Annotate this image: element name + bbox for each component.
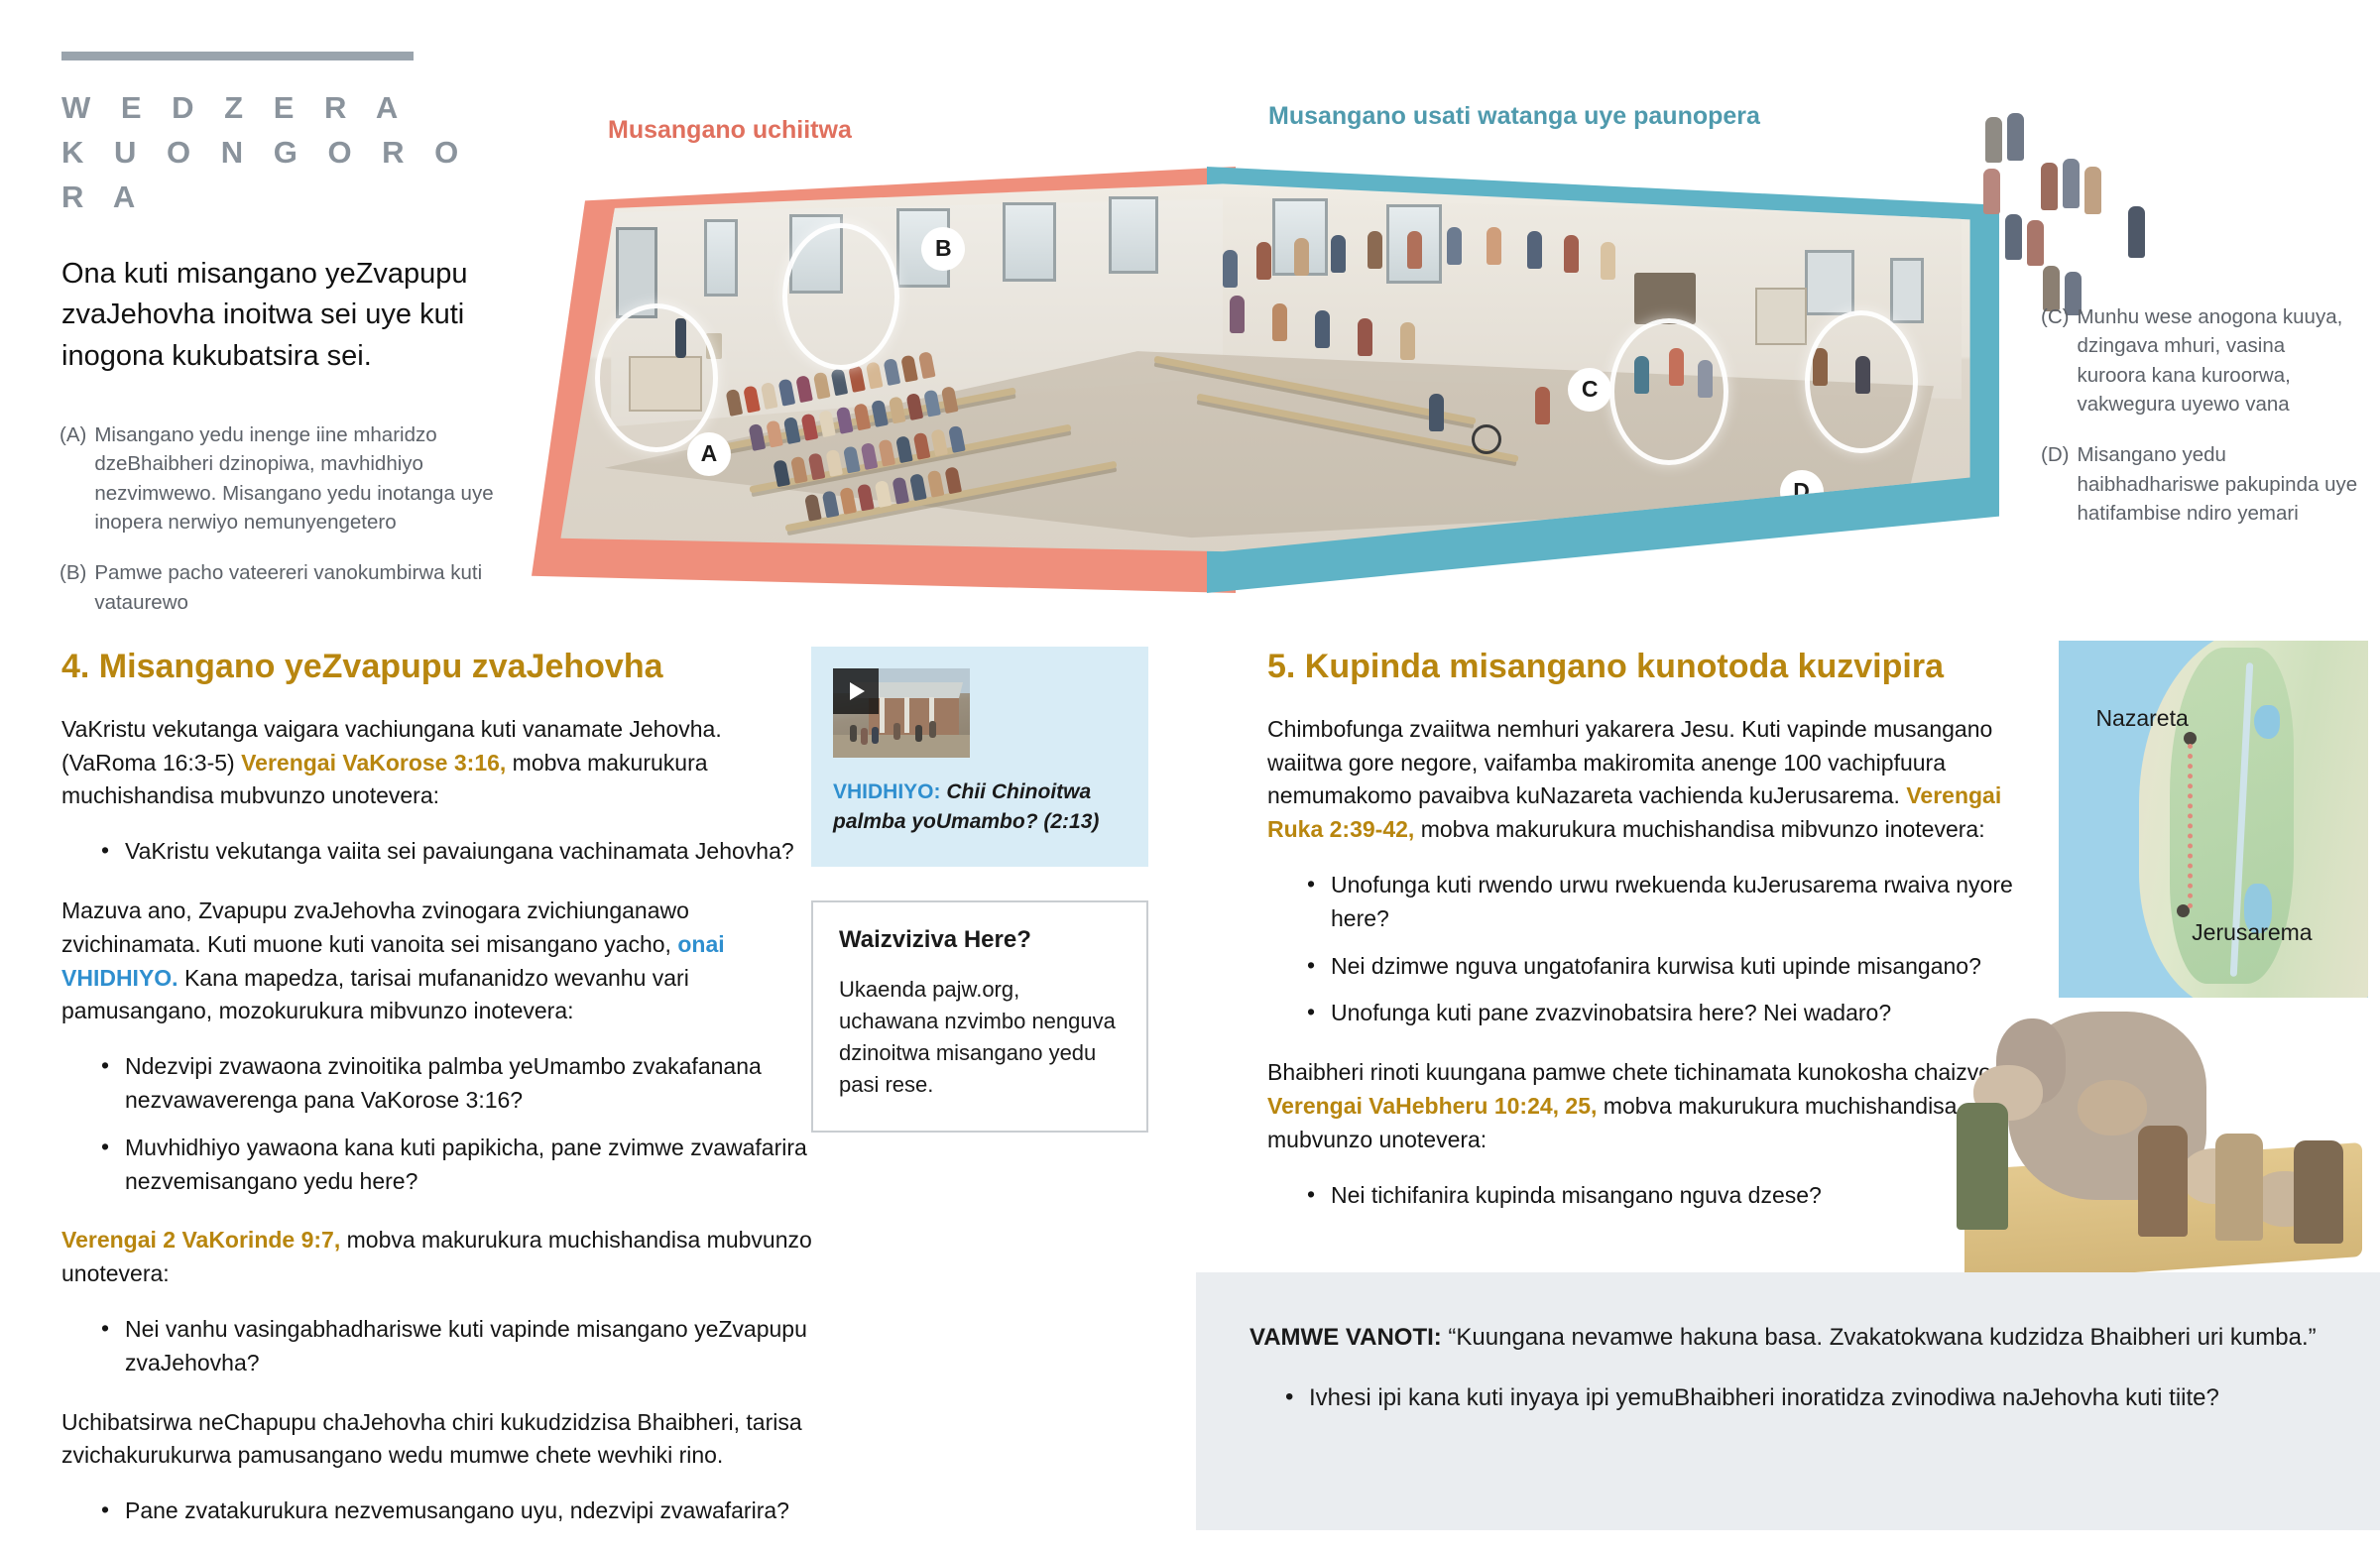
list-item: Muvhidhiyo yawaona kana kuti papikicha, … xyxy=(101,1132,815,1199)
legend-text: Misangano yedu haibhadhariswe pakupinda … xyxy=(2077,440,2358,528)
map-lake-galilee xyxy=(2254,705,2280,739)
list-item: Nei vanhu vasingabhadhariswe kuti vapind… xyxy=(101,1313,815,1380)
hall-standing-figure xyxy=(1400,322,1415,360)
illustration-legend-right: (C) Munhu wese anogona kuuya, dzingava m… xyxy=(2041,302,2358,549)
legend-item-d: (D) Misangano yedu haibhadhariswe pakupi… xyxy=(2041,440,2358,528)
hall-standing-figure xyxy=(1368,231,1382,269)
section-5: 5. Kupinda misangano kunotoda kuzvipira … xyxy=(1267,647,2051,1238)
thumb-person xyxy=(850,725,857,742)
legend-key: (B) xyxy=(59,558,94,617)
legend-text: Pamwe pacho vateereri vanokumbirwa kuti … xyxy=(94,558,516,617)
section-5-question-list-1: Unofunga kuti rwendo urwu rwekuenda kuJe… xyxy=(1267,869,2051,1030)
hall-standing-figure xyxy=(1564,235,1579,273)
para-text: Mazuva ano, Zvapupu zvaJehovha zvinogara… xyxy=(61,897,689,957)
hall-literature-cart xyxy=(1755,288,1807,345)
hall-standing-figure xyxy=(1230,296,1245,333)
para-text: Chimbofunga zvaiitwa nemhuri yakarera Je… xyxy=(1267,716,1992,809)
section-4-paragraph-2: Mazuva ano, Zvapupu zvaJehovha zvinogara… xyxy=(61,895,815,1028)
legend-text: Misangano yedu inenge iine mharidzo dzeB… xyxy=(94,420,516,537)
scripture-link[interactable]: Verengai VaKorose 3:16, xyxy=(241,750,506,776)
hall-window xyxy=(1805,250,1854,315)
thumb-person xyxy=(915,725,922,742)
video-card[interactable]: VHIDHIYO: Chii Chinoitwa palmba yoUmambo… xyxy=(811,647,1148,867)
traveler-figure xyxy=(2138,1126,2188,1237)
hall-standing-figure xyxy=(1331,235,1346,273)
callout-circle-d xyxy=(1805,310,1918,453)
legend-text: Munhu wese anogona kuuya, dzingava mhuri… xyxy=(2077,302,2358,418)
list-item: Unofunga kuti rwendo urwu rwekuenda kuJe… xyxy=(1307,869,2051,936)
thumb-column xyxy=(904,697,909,733)
hall-standing-figure xyxy=(1256,242,1271,280)
traveler-figure xyxy=(2294,1140,2343,1244)
thumb-person xyxy=(893,723,900,740)
thumb-person xyxy=(872,727,879,744)
hall-standing-figure xyxy=(1407,231,1422,269)
callout-marker-c: C xyxy=(1568,368,1611,412)
illustration-legend-left: (A) Misangano yedu inenge iine mharidzo … xyxy=(59,420,516,639)
thumb-person xyxy=(929,721,936,738)
some-say-panel: VAMWE VANOTI: “Kuungana nevamwe hakuna b… xyxy=(1196,1272,2380,1530)
legend-key: (A) xyxy=(59,420,94,537)
section-4-heading: 4. Misangano yeZvapupu zvaJehovha xyxy=(61,647,815,687)
section-4-paragraph-1: VaKristu vekutanga vaigara vachiungana k… xyxy=(61,713,815,813)
list-item: Unofunga kuti pane zvazvinobatsira here?… xyxy=(1307,997,2051,1030)
section-5-paragraph-2: Bhaibheri rinoti kuungana pamwe chete ti… xyxy=(1267,1056,2051,1156)
hall-standing-figure xyxy=(1358,318,1372,356)
page-title-line2: K U O N G O R O R A xyxy=(61,135,469,214)
legend-key: (D) xyxy=(2041,440,2077,528)
section-5-question-list-2: Nei tichifanira kupinda misangano nguva … xyxy=(1267,1179,2051,1213)
hall-counter xyxy=(1634,273,1696,324)
arriving-attendees-group xyxy=(1979,111,2178,309)
some-say-label: VAMWE VANOTI: xyxy=(1249,1324,1442,1351)
map-travel-route xyxy=(2188,744,2193,908)
section-4-paragraph-4: Uchibatsirwa neChapupu chaJehovha chiri … xyxy=(61,1406,815,1474)
para-text: Bhaibheri rinoti kuungana pamwe chete ti… xyxy=(1267,1059,1997,1085)
hall-standing-figure xyxy=(1487,227,1501,265)
wheelchair-icon xyxy=(1472,424,1501,454)
illustration-label-during: Musangano uchiitwa xyxy=(608,116,852,145)
para-text: mobva makurukura muchishandisa mibvunzo … xyxy=(1414,816,1984,842)
hero-section: W E D Z E R A K U O N G O R O R A Ona ku… xyxy=(0,0,2380,615)
section-4-paragraph-3: Verengai 2 VaKorinde 9:7, mobva makuruku… xyxy=(61,1224,815,1291)
some-say-quote: “Kuungana nevamwe hakuna basa. Zvakatokw… xyxy=(1442,1324,2317,1351)
section-4-question-list-4: Pane zvatakurukura nezvemusangano uyu, n… xyxy=(61,1494,815,1528)
list-item: Ndezvipi zvawaona zvinoitika palmba yeUm… xyxy=(101,1050,815,1118)
traveler-figure xyxy=(1957,1103,2008,1230)
intro-paragraph: Ona kuti misangano yeZvapupu zvaJehovha … xyxy=(61,254,478,377)
callout-circle-a xyxy=(595,303,718,452)
thumb-column xyxy=(880,697,885,733)
video-label: VHIDHIYO: xyxy=(833,780,941,803)
callout-circle-b xyxy=(782,223,899,370)
brand-column: W E D Z E R A K U O N G O R O R A Ona ku… xyxy=(61,52,478,377)
did-you-know-card: Waizviziva Here? Ukaenda pajw.org, uchaw… xyxy=(811,900,1148,1133)
hall-standing-figure xyxy=(1527,231,1542,269)
hall-standing-figure xyxy=(1223,250,1238,288)
callout-marker-b: B xyxy=(921,227,965,271)
thumb-person xyxy=(861,728,868,745)
hall-standing-figure xyxy=(1315,310,1330,348)
list-item: Nei dzimwe nguva ungatofanira kurwisa ku… xyxy=(1307,950,2051,984)
list-item: Ivhesi ipi kana kuti inyaya ipi yemuBhai… xyxy=(1285,1381,2326,1416)
hall-standing-figure xyxy=(1447,227,1462,265)
did-you-know-heading: Waizviziva Here? xyxy=(839,926,1121,954)
hall-standing-figure xyxy=(1272,303,1287,341)
brand-rule xyxy=(61,52,414,60)
map-label-nazareth: Nazareta xyxy=(2095,705,2188,732)
list-item: Pane zvatakurukura nezvemusangano uyu, n… xyxy=(101,1494,815,1528)
page-title-line1: W E D Z E R A xyxy=(61,90,409,125)
did-you-know-body: Ukaenda pajw.org, uchawana nzvimbo nengu… xyxy=(839,974,1121,1101)
video-caption: VHIDHIYO: Chii Chinoitwa palmba yoUmambo… xyxy=(833,777,1127,837)
play-triangle xyxy=(850,682,865,700)
legend-item-b: (B) Pamwe pacho vateereri vanokumbirwa k… xyxy=(59,558,516,617)
section-4: 4. Misangano yeZvapupu zvaJehovha VaKris… xyxy=(61,647,815,1554)
section-5-heading: 5. Kupinda misangano kunotoda kuzvipira xyxy=(1267,647,2051,687)
hall-standing-figure xyxy=(1601,242,1615,280)
travel-bundle xyxy=(2078,1080,2147,1136)
section-4-question-list-3: Nei vanhu vasingabhadhariswe kuti vapind… xyxy=(61,1313,815,1380)
hall-attendant-figure xyxy=(1535,387,1550,424)
travel-illustration xyxy=(1948,912,2380,1293)
legend-item-a: (A) Misangano yedu inenge iine mharidzo … xyxy=(59,420,516,537)
sidebar-column: VHIDHIYO: Chii Chinoitwa palmba yoUmambo… xyxy=(811,647,1148,1133)
page-title: W E D Z E R A K U O N G O R O R A xyxy=(61,86,478,220)
list-item: VaKristu vekutanga vaiita sei pavaiungan… xyxy=(101,835,815,869)
scripture-link[interactable]: Verengai VaHebheru 10:24, 25, xyxy=(1267,1093,1597,1119)
video-thumbnail[interactable] xyxy=(833,668,970,758)
hall-window xyxy=(1003,202,1056,282)
play-icon[interactable] xyxy=(833,668,879,714)
callout-circle-c xyxy=(1609,318,1728,465)
scripture-link[interactable]: Verengai 2 VaKorinde 9:7, xyxy=(61,1227,340,1253)
hall-window xyxy=(1109,196,1158,274)
legend-item-c: (C) Munhu wese anogona kuuya, dzingava m… xyxy=(2041,302,2358,418)
section-5-paragraph-1: Chimbofunga zvaiitwa nemhuri yakarera Je… xyxy=(1267,713,2051,847)
some-say-question-list: Ivhesi ipi kana kuti inyaya ipi yemuBhai… xyxy=(1249,1381,2326,1416)
callout-marker-a: A xyxy=(687,432,731,476)
section-4-question-list-2: Ndezvipi zvawaona zvinoitika palmba yeUm… xyxy=(61,1050,815,1198)
kingdom-hall-illustration: A B C D xyxy=(532,167,1999,593)
hall-window xyxy=(1890,258,1924,323)
traveler-figure xyxy=(2215,1134,2263,1241)
legend-key: (C) xyxy=(2041,302,2077,418)
illustration-label-before: Musangano usati watanga uye paunopera xyxy=(1268,102,1760,131)
hall-window xyxy=(704,219,738,297)
hall-standing-figure xyxy=(1294,238,1309,276)
section-4-question-list-1: VaKristu vekutanga vaiita sei pavaiungan… xyxy=(61,835,815,869)
hall-attendant-figure xyxy=(1429,394,1444,431)
content-area: 4. Misangano yeZvapupu zvaJehovha VaKris… xyxy=(0,627,2380,1530)
some-say-quote-line: VAMWE VANOTI: “Kuungana nevamwe hakuna b… xyxy=(1249,1320,2326,1356)
list-item: Nei tichifanira kupinda misangano nguva … xyxy=(1307,1179,2051,1213)
